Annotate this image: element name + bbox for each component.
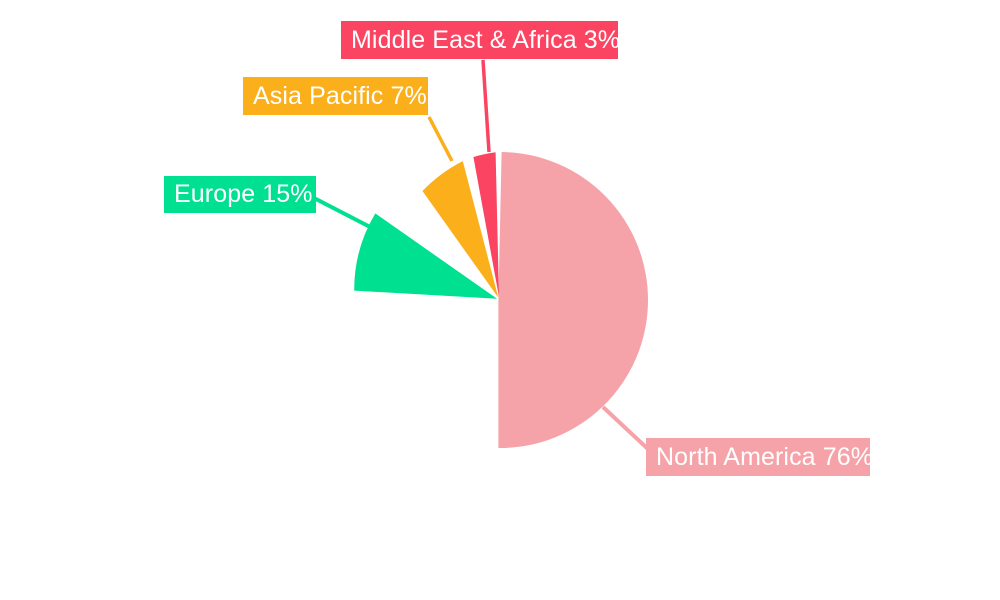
slice-label-middle-east-africa[interactable]: Middle East & Africa 3%: [341, 21, 618, 59]
leader-line-asia-pacific: [429, 117, 452, 161]
slice-label-asia-pacific[interactable]: Asia Pacific 7%: [243, 77, 428, 115]
pie-chart-svg: [0, 0, 1000, 600]
leader-line-europe: [314, 198, 374, 229]
leader-line-north-america: [603, 407, 649, 450]
slice-label-europe[interactable]: Europe 15%: [164, 176, 316, 213]
slice-label-asia-pacific-text: Asia Pacific 7%: [253, 84, 427, 109]
pie-slice-north-america: [498, 152, 648, 448]
pie-chart-figure: Middle East & Africa 3% Asia Pacific 7% …: [0, 0, 1000, 600]
slice-label-north-america-text: North America 76%: [656, 445, 873, 470]
slice-label-middle-east-africa-text: Middle East & Africa 3%: [351, 28, 620, 53]
slice-label-europe-text: Europe 15%: [174, 182, 313, 207]
leader-line-middle-east-africa: [483, 60, 489, 152]
slice-label-north-america[interactable]: North America 76%: [646, 438, 870, 476]
